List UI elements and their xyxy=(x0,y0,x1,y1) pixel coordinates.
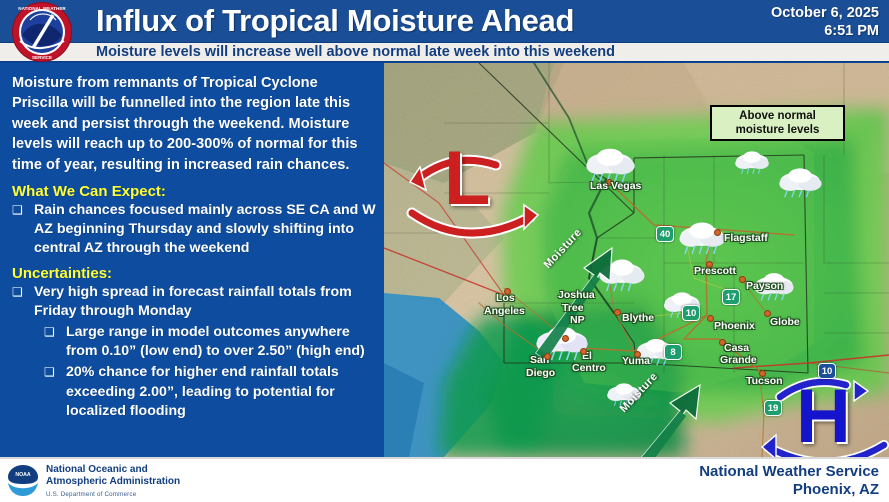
discussion-panel: Moisture from remnants of Tropical Cyclo… xyxy=(0,63,384,457)
checkbox-bullet-icon: ❑ xyxy=(12,201,34,259)
uncertainty-item-text: 20% chance for higher end rainfall total… xyxy=(66,363,376,421)
nws-seal-logo: NATIONAL WEATHER SERVICE xyxy=(6,1,78,63)
low-pressure-symbol: L xyxy=(444,141,490,217)
nws-office-location: Phoenix, AZ xyxy=(699,481,879,499)
svg-text:NATIONAL WEATHER: NATIONAL WEATHER xyxy=(18,6,66,11)
high-pressure-symbol: H xyxy=(796,379,851,455)
list-item: ❑ Large range in model outcomes anywhere… xyxy=(44,323,376,361)
list-item: ❑ Very high spread in forecast rainfall … xyxy=(12,283,376,321)
subtitle-text: Moisture levels will increase well above… xyxy=(96,43,796,62)
page-title: Influx of Tropical Moisture Ahead xyxy=(96,2,574,40)
checkbox-bullet-icon: ❑ xyxy=(44,363,66,421)
issued-datetime: October 6, 2025 6:51 PM xyxy=(771,4,879,40)
expect-heading: What We Can Expect: xyxy=(12,183,376,200)
discussion-intro: Moisture from remnants of Tropical Cyclo… xyxy=(12,73,374,175)
checkbox-bullet-icon: ❑ xyxy=(12,283,34,321)
issued-date: October 6, 2025 xyxy=(771,4,879,22)
noaa-line-2: Atmospheric Administration xyxy=(46,476,180,488)
city-marker-dot xyxy=(759,370,766,377)
city-marker-dot xyxy=(634,351,641,358)
city-marker-dot xyxy=(739,276,746,283)
svg-text:SERVICE: SERVICE xyxy=(32,55,52,60)
uncertainty-item-text: Very high spread in forecast rainfall to… xyxy=(34,283,376,321)
noaa-line-1: National Oceanic and xyxy=(46,464,180,476)
highway-shield: 17 xyxy=(722,289,740,305)
city-marker-dot xyxy=(614,309,621,316)
weather-graphic: NATIONAL WEATHER SERVICE Influx of Tropi… xyxy=(0,0,889,500)
noaa-logo: NOAA xyxy=(6,464,40,497)
city-marker-dot xyxy=(544,353,551,360)
legend-above-normal-moisture: Above normal moisture levels xyxy=(710,105,845,141)
legend-line-1: Above normal xyxy=(736,109,820,123)
noaa-agency-name: National Oceanic and Atmospheric Adminis… xyxy=(46,464,180,501)
svg-text:NOAA: NOAA xyxy=(15,472,31,478)
footer-bar: NOAA National Oceanic and Atmospheric Ad… xyxy=(0,457,889,500)
highway-shield: 8 xyxy=(664,344,682,360)
highway-shield: 40 xyxy=(656,226,674,242)
checkbox-bullet-icon: ❑ xyxy=(44,323,66,361)
nws-office-credit: National Weather Service Phoenix, AZ xyxy=(699,463,879,499)
issued-time: 6:51 PM xyxy=(771,22,879,40)
forecast-map: L H Moisture Moisture Above normal moist… xyxy=(384,63,889,457)
nws-office-name: National Weather Service xyxy=(699,463,879,481)
legend-line-2: moisture levels xyxy=(736,123,820,137)
list-item: ❑ Rain chances focused mainly across SE … xyxy=(12,201,376,259)
city-marker-dot xyxy=(714,229,721,236)
city-marker-dot xyxy=(606,179,613,186)
city-marker-dot xyxy=(562,335,569,342)
city-marker-dot xyxy=(504,288,511,295)
list-item: ❑ 20% chance for higher end rainfall tot… xyxy=(44,363,376,421)
uncertainty-item-text: Large range in model outcomes anywhere f… xyxy=(66,323,376,361)
highway-shield: 10 xyxy=(818,363,836,379)
noaa-department-line: U.S. Department of Commerce xyxy=(46,489,180,501)
highway-shield: 10 xyxy=(682,305,700,321)
city-marker-dot xyxy=(719,339,726,346)
uncertainties-heading: Uncertainties: xyxy=(12,265,376,282)
highway-shield: 19 xyxy=(764,400,782,416)
city-marker-dot xyxy=(707,315,714,322)
city-marker-dot xyxy=(580,348,587,355)
city-marker-dot xyxy=(764,310,771,317)
city-marker-dot xyxy=(706,261,713,268)
expect-item-text: Rain chances focused mainly across SE CA… xyxy=(34,201,376,259)
